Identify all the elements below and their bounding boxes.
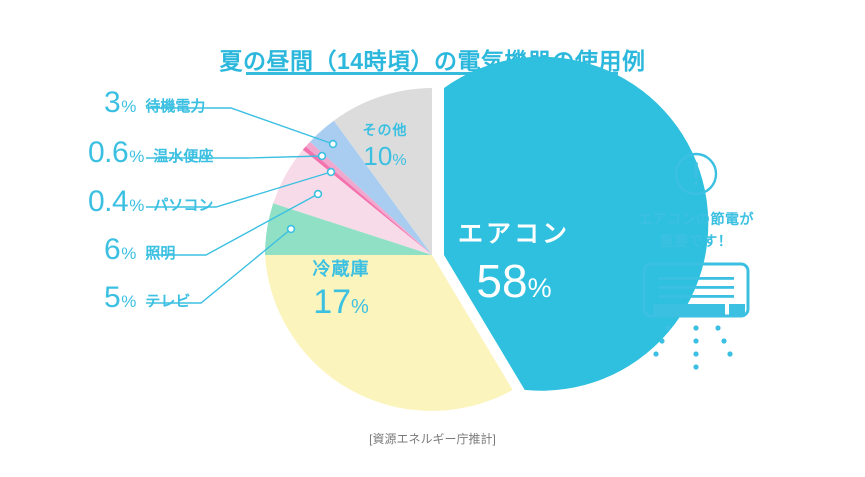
slice-percent-sign-fridge: % — [351, 296, 369, 318]
callout-label-pc: パソコン — [153, 198, 213, 213]
notice-line-2: 重要です！ — [660, 233, 733, 249]
slice-name-aircon: エアコン — [444, 214, 584, 250]
callout-value-standby: 3 — [104, 88, 120, 118]
slice-percent-sign-other: % — [392, 152, 406, 169]
slice-label-aircon: エアコン 58% — [444, 214, 584, 308]
slice-value-other: 10% — [345, 141, 425, 172]
slice-percent-sign-aircon: % — [528, 273, 552, 303]
callout-toilet-seat: 0.6 % 温水便座 — [88, 138, 213, 168]
callout-value-toilet-seat: 0.6 — [88, 138, 128, 168]
callout-percent-sign: % — [121, 98, 136, 115]
callout-percent-sign: % — [129, 148, 144, 165]
callout-percent-sign: % — [121, 293, 136, 310]
aircon-notice-panel: エアコンの節電が 重要です！ — [606, 150, 786, 383]
slice-value-fridge: 17% — [293, 283, 389, 322]
callout-lighting: 6 % 照明 — [104, 235, 175, 265]
notice-text: エアコンの節電が 重要です！ — [606, 209, 786, 252]
callout-percent-sign: % — [129, 197, 144, 214]
slice-value-aircon: 58% — [444, 254, 584, 308]
leader-dot-pc — [328, 169, 335, 176]
leader-dot-lighting — [315, 191, 322, 198]
leader-dot-standby — [330, 141, 337, 148]
callout-label-tv: テレビ — [145, 294, 190, 309]
callout-value-lighting: 6 — [104, 235, 120, 265]
leader-dot-toilet-seat — [319, 153, 326, 160]
slice-value-number-aircon: 58 — [476, 255, 527, 307]
source-note: [資源エネルギー庁推計] — [0, 430, 865, 447]
callout-label-lighting: 照明 — [145, 246, 175, 261]
leader-dot-tv — [288, 226, 295, 233]
slice-name-other: その他 — [345, 120, 425, 140]
callout-value-tv: 5 — [104, 283, 120, 313]
slice-value-number-fridge: 17 — [313, 283, 351, 321]
slice-label-fridge: 冷蔵庫 17% — [293, 255, 389, 322]
air-conditioner-icon — [606, 258, 786, 378]
callout-value-pc: 0.4 — [88, 187, 128, 217]
callout-standby: 3 % 待機電力 — [104, 88, 205, 118]
callout-percent-sign: % — [121, 245, 136, 262]
callout-label-toilet-seat: 温水便座 — [153, 149, 213, 164]
slice-value-number-other: 10 — [363, 141, 392, 171]
slice-name-fridge: 冷蔵庫 — [293, 255, 389, 281]
infographic-canvas: 夏の昼間（14時頃）の電気機器の使用例 — [0, 0, 865, 477]
callout-tv: 5 % テレビ — [104, 283, 190, 313]
exclamation-circle-icon — [606, 150, 786, 198]
notice-line-1: エアコンの節電が — [638, 211, 754, 227]
slice-label-other: その他 10% — [345, 120, 425, 172]
callout-label-standby: 待機電力 — [145, 99, 205, 114]
callout-pc: 0.4 % パソコン — [88, 187, 213, 217]
